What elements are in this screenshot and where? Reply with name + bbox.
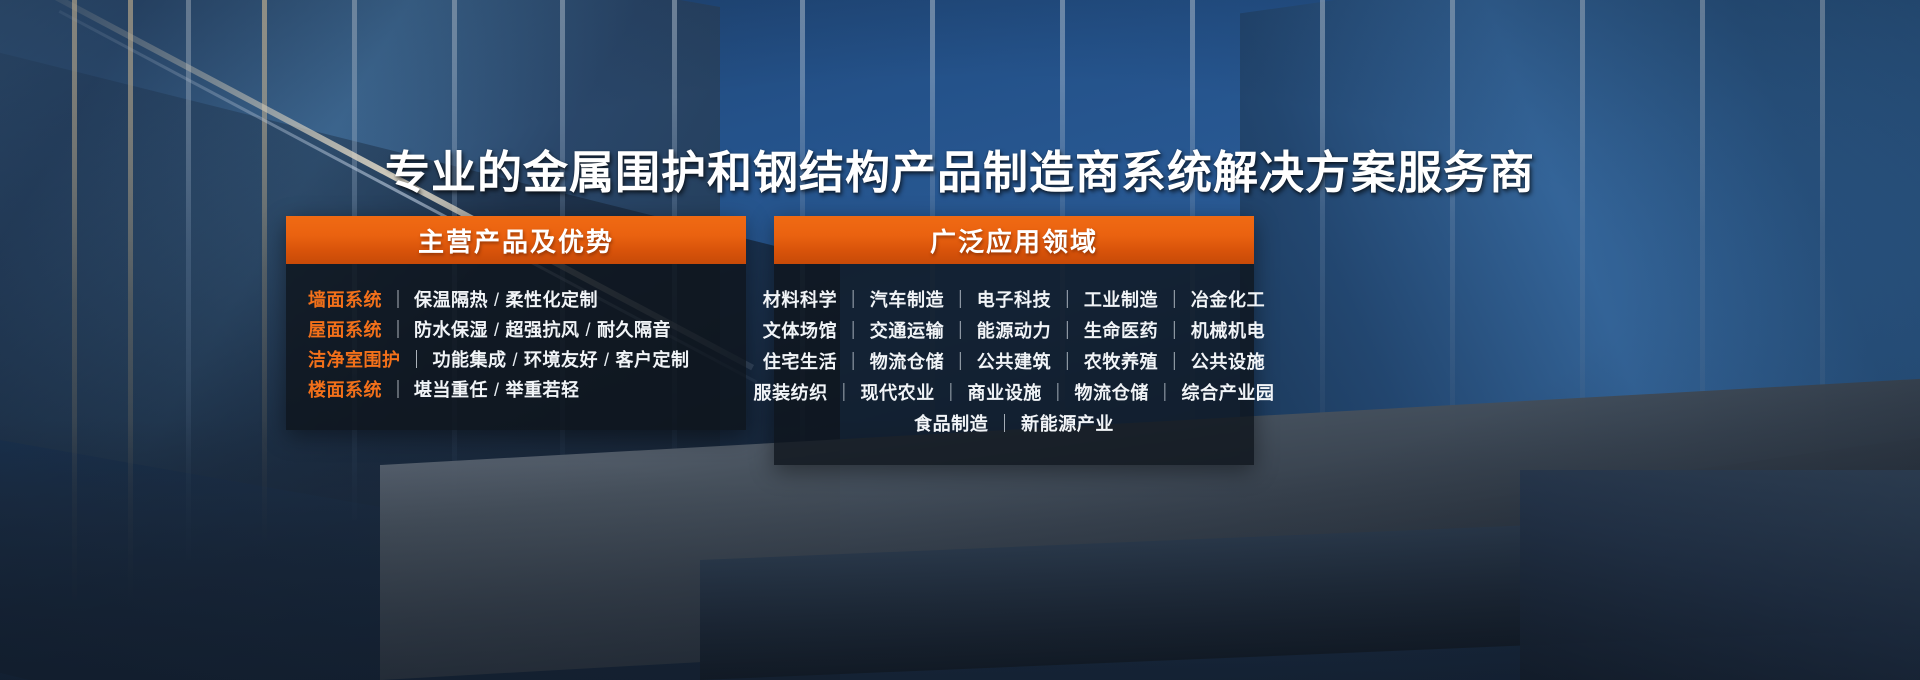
products-panel-body: 墙面系统｜保温隔热/柔性化定制屋面系统｜防水保湿/超强抗风/耐久隔音洁净室围护｜… [286, 264, 746, 430]
application-tag: 机械机电 [1191, 322, 1265, 340]
application-separator: ｜ [1051, 322, 1084, 340]
application-tag: 服装纺织 [753, 384, 827, 402]
applications-panel: 广泛应用领域 材料科学｜汽车制造｜电子科技｜工业制造｜冶金化工文体场馆｜交通运输… [774, 216, 1254, 465]
products-list: 墙面系统｜保温隔热/柔性化定制屋面系统｜防水保湿/超强抗风/耐久隔音洁净室围护｜… [286, 286, 746, 406]
application-tag: 商业设施 [968, 384, 1042, 402]
application-tag: 物流仓储 [870, 353, 944, 371]
product-feature: 保温隔热 [414, 290, 488, 310]
application-line: 材料科学｜汽车制造｜电子科技｜工业制造｜冶金化工 [788, 286, 1240, 317]
application-separator: ｜ [837, 353, 870, 371]
application-tag: 农牧养殖 [1084, 353, 1158, 371]
feature-slash: / [488, 290, 506, 310]
products-panel-title: 主营产品及优势 [286, 216, 746, 264]
product-row: 洁净室围护｜功能集成/环境友好/客户定制 [308, 346, 724, 376]
application-tag: 电子科技 [977, 291, 1051, 309]
application-separator: ｜ [1149, 384, 1182, 402]
application-separator: ｜ [944, 291, 977, 309]
application-separator: ｜ [988, 415, 1021, 433]
application-separator: ｜ [1051, 291, 1084, 309]
application-line: 住宅生活｜物流仓储｜公共建筑｜农牧养殖｜公共设施 [788, 348, 1240, 379]
product-features: 防水保湿/超强抗风/耐久隔音 [414, 321, 671, 339]
application-tag: 工业制造 [1084, 291, 1158, 309]
application-tag: 汽车制造 [870, 291, 944, 309]
product-separator: ｜ [382, 291, 414, 309]
application-tag: 综合产业园 [1182, 384, 1275, 402]
product-row: 墙面系统｜保温隔热/柔性化定制 [308, 286, 724, 316]
application-separator: ｜ [828, 384, 861, 402]
feature-slash: / [507, 350, 525, 370]
application-separator: ｜ [944, 322, 977, 340]
product-feature: 耐久隔音 [597, 320, 671, 340]
application-separator: ｜ [837, 322, 870, 340]
product-feature: 环境友好 [524, 350, 598, 370]
product-row: 屋面系统｜防水保湿/超强抗风/耐久隔音 [308, 316, 724, 346]
product-separator: ｜ [382, 381, 414, 399]
product-feature: 客户定制 [616, 350, 690, 370]
application-tag: 住宅生活 [763, 353, 837, 371]
product-feature: 超强抗风 [506, 320, 580, 340]
feature-slash: / [488, 320, 506, 340]
hero-headline: 专业的金属围护和钢结构产品制造商系统解决方案服务商 [0, 136, 1920, 201]
application-tag: 交通运输 [870, 322, 944, 340]
application-tag: 文体场馆 [763, 322, 837, 340]
applications-panel-title: 广泛应用领域 [774, 216, 1254, 264]
application-line: 食品制造｜新能源产业 [788, 410, 1240, 441]
applications-panel-body: 材料科学｜汽车制造｜电子科技｜工业制造｜冶金化工文体场馆｜交通运输｜能源动力｜生… [774, 264, 1254, 465]
feature-slash: / [598, 350, 616, 370]
application-tag: 公共建筑 [977, 353, 1051, 371]
product-separator: ｜ [401, 351, 433, 369]
application-separator: ｜ [944, 353, 977, 371]
application-tag: 冶金化工 [1191, 291, 1265, 309]
product-category: 墙面系统 [308, 291, 382, 309]
application-separator: ｜ [1158, 291, 1191, 309]
feature-slash: / [488, 380, 506, 400]
application-line: 文体场馆｜交通运输｜能源动力｜生命医药｜机械机电 [788, 317, 1240, 348]
product-feature: 防水保湿 [414, 320, 488, 340]
feature-slash: / [580, 320, 598, 340]
product-row: 楼面系统｜堪当重任/举重若轻 [308, 376, 724, 406]
application-separator: ｜ [1051, 353, 1084, 371]
application-tag: 新能源产业 [1021, 415, 1114, 433]
products-panel: 主营产品及优势 墙面系统｜保温隔热/柔性化定制屋面系统｜防水保湿/超强抗风/耐久… [286, 216, 746, 430]
application-tag: 能源动力 [977, 322, 1051, 340]
product-separator: ｜ [382, 321, 414, 339]
product-feature: 柔性化定制 [506, 290, 599, 310]
application-separator: ｜ [837, 291, 870, 309]
application-separator: ｜ [935, 384, 968, 402]
application-tag: 食品制造 [914, 415, 988, 433]
product-features: 功能集成/环境友好/客户定制 [433, 351, 690, 369]
hero-panels: 主营产品及优势 墙面系统｜保温隔热/柔性化定制屋面系统｜防水保湿/超强抗风/耐久… [286, 216, 1254, 465]
application-tag: 现代农业 [860, 384, 934, 402]
product-features: 堪当重任/举重若轻 [414, 381, 580, 399]
application-tag: 材料科学 [763, 291, 837, 309]
product-category: 楼面系统 [308, 381, 382, 399]
product-features: 保温隔热/柔性化定制 [414, 291, 598, 309]
product-category: 洁净室围护 [308, 351, 401, 369]
applications-list: 材料科学｜汽车制造｜电子科技｜工业制造｜冶金化工文体场馆｜交通运输｜能源动力｜生… [774, 286, 1254, 441]
application-separator: ｜ [1158, 353, 1191, 371]
product-category: 屋面系统 [308, 321, 382, 339]
application-separator: ｜ [1158, 322, 1191, 340]
application-tag: 生命医药 [1084, 322, 1158, 340]
application-line: 服装纺织｜现代农业｜商业设施｜物流仓储｜综合产业园 [788, 379, 1240, 410]
application-separator: ｜ [1042, 384, 1075, 402]
product-feature: 举重若轻 [506, 380, 580, 400]
product-feature: 功能集成 [433, 350, 507, 370]
product-feature: 堪当重任 [414, 380, 488, 400]
application-tag: 物流仓储 [1075, 384, 1149, 402]
application-tag: 公共设施 [1191, 353, 1265, 371]
